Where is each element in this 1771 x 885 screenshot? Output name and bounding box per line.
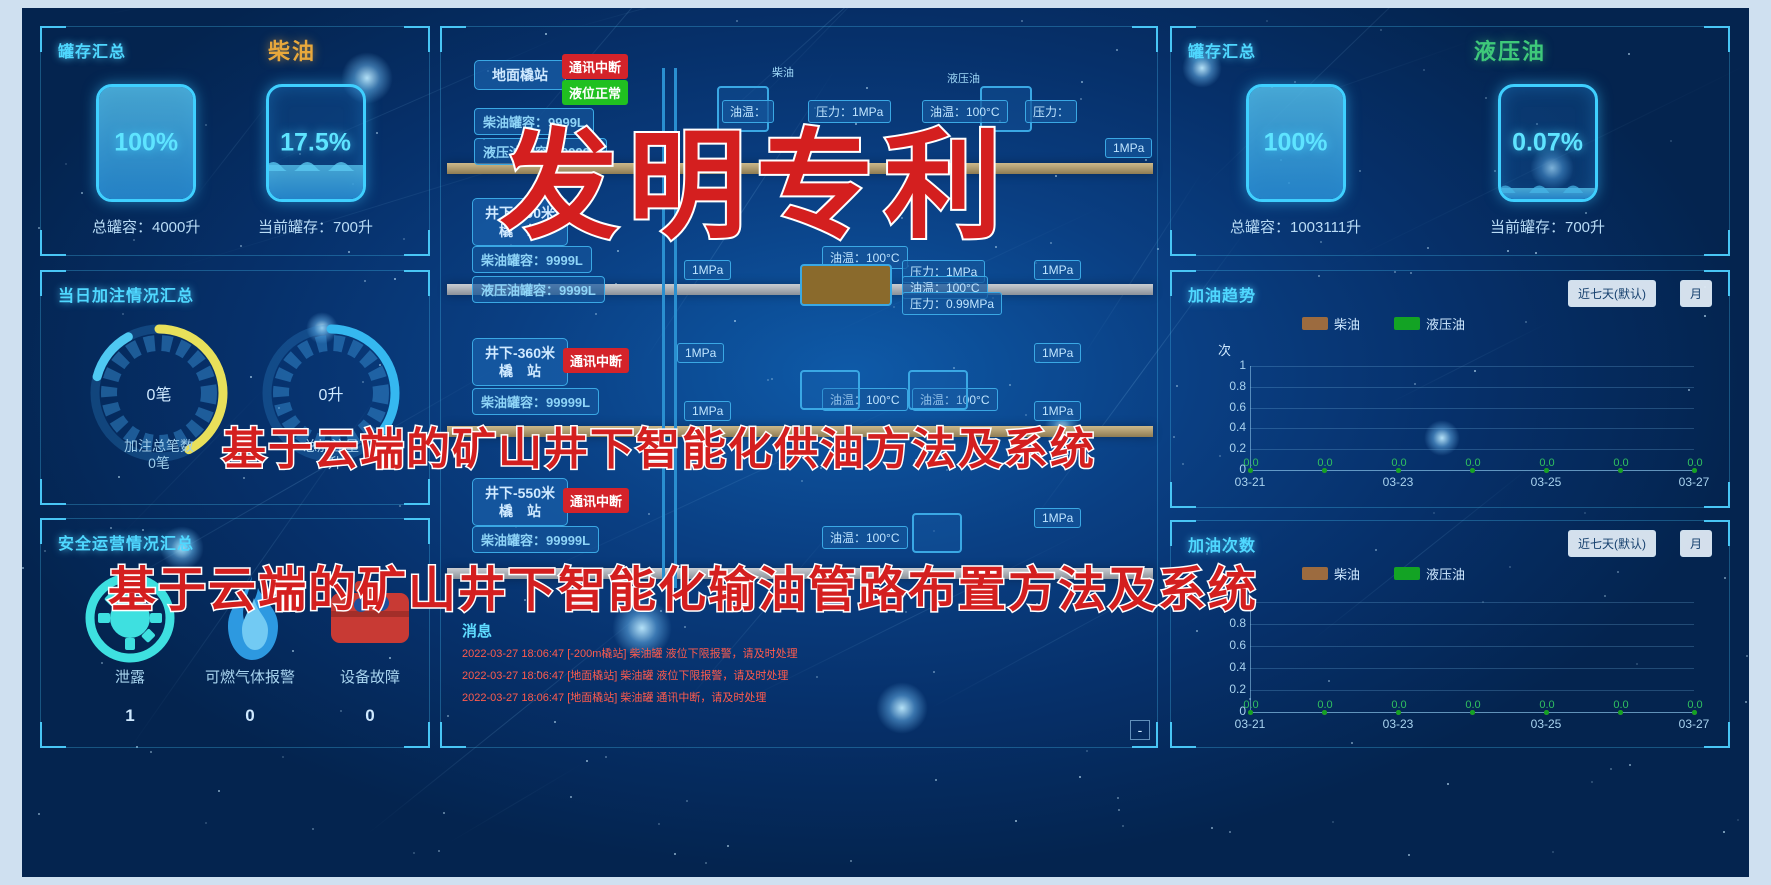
corner-bracket [40,722,66,748]
star-dot [218,790,220,792]
grid-line [1250,668,1694,669]
status-badge-comm-interrupt-360m: 通讯中断 [563,348,629,373]
chart-plot-area: 00.20.40.60.810.00.00.00.00.00.00.003-21… [1204,596,1704,734]
star-dot [205,822,207,824]
corner-bracket [404,479,430,505]
legend-label-diesel: 柴油 [1334,314,1360,333]
pressure-chip-5: 1MPa [1034,343,1081,363]
message-row: 2022-03-27 18:06:47 [地面橇站] 柴油罐 通讯中断，请及时处… [462,689,766,705]
star-dot [705,862,707,864]
panel-edge [40,52,41,230]
corner-bracket [440,722,466,748]
tank-total-caption: 总罐容：4000升 [92,216,200,237]
tank-current-hydraulic: 0.07% 当前罐存：700升 [1490,84,1605,237]
tank-unit-550m [912,513,962,553]
legend-hydraulic-count[interactable]: 液压油 [1394,564,1465,583]
star-dot [413,852,415,854]
y-tick-label: 1 [1216,358,1246,372]
messages-title: 消息 [462,620,492,641]
star-dot [1552,851,1554,853]
tank-unit-360m-b [908,370,968,410]
data-point-label: 0.0 [1684,457,1706,469]
pressure-chip-1: 1MPa [1105,138,1152,158]
y-tick-label: 0.6 [1216,638,1246,652]
safety-value-fault: 0 [320,706,420,726]
star-dot [312,828,314,830]
star-dot [1723,831,1725,833]
panel-edge [66,504,404,505]
capacity-chip-diesel-360m: 柴油罐容：99999L [472,388,599,415]
panel-title-hydraulic-inventory: 罐存汇总 [1188,38,1256,62]
corner-bracket [1170,722,1196,748]
grid-line [1250,602,1694,603]
sensor-chip-pressure-2: 压力： [1025,100,1077,123]
star-dot [658,823,660,825]
data-point-label: 0.0 [1314,699,1336,711]
data-point-label: 0.0 [1240,457,1262,469]
x-tick-label: 03-25 [1524,475,1568,489]
star-dot [1086,750,1088,752]
star-dot [1629,764,1631,766]
star-dot [686,800,688,802]
tank-percent-label: 100% [1249,129,1343,158]
panel-subtitle-hydraulic: 液压油 [1474,34,1546,66]
panel-edge [1157,52,1158,722]
star-dot [850,860,852,862]
panel-edge [66,255,404,256]
star-dot [1737,819,1739,821]
data-point-label: 0.0 [1462,699,1484,711]
period-select-week-trend[interactable]: 近七天(默认) [1568,280,1656,307]
star-dot [1211,827,1213,829]
data-point-label: 0.0 [1610,457,1632,469]
x-tick-label: 03-27 [1672,475,1716,489]
tank-graphic: 100% [96,84,196,202]
panel-edge [1196,520,1704,521]
star-dot [1433,512,1435,514]
sensor-chip-oil-temp-7: 油温：100°C [822,526,908,549]
corner-bracket [1170,230,1196,256]
tank-graphic: 0.07% [1498,84,1598,202]
grid-line [1250,408,1694,409]
period-select-week-count[interactable]: 近七天(默认) [1568,530,1656,557]
period-select-month-count[interactable]: 月 [1680,530,1712,557]
panel-edge [440,52,441,722]
star-dot [1266,20,1268,22]
corner-bracket [1170,482,1196,508]
gauge-caption-line1: 加注总笔数 [84,438,234,455]
data-point-label: 0.0 [1388,457,1410,469]
panel-edge [66,747,404,748]
legend-diesel-trend[interactable]: 柴油 [1302,314,1360,333]
screenshot-root: 罐存汇总 柴油 100% 总罐容：4000升 17.5% 当前罐存：700升 [0,0,1771,885]
gauge-caption-line2: 0笔 [84,455,234,472]
data-point-label: 0.0 [1684,699,1706,711]
panel-edge [40,296,41,479]
tank-group-label-hydraulic: 液压油 [947,70,980,86]
tank-total-diesel: 100% 总罐容：4000升 [92,84,200,237]
panel-hydraulic-inventory: 罐存汇总 液压油 100% 总罐容：1003111升 0.07% 当前罐存：70… [1170,26,1730,256]
corner-bracket [404,518,430,544]
y-tick-label: 0.4 [1216,420,1246,434]
data-point-label: 0.0 [1536,457,1558,469]
star-dot [727,845,729,847]
tank-fill [1501,188,1595,199]
corner-bracket [1704,26,1730,52]
star-dot [674,853,676,855]
grid-line [1250,366,1694,367]
panel-edge [1729,546,1730,722]
panel-edge [1196,747,1704,748]
star-dot [1591,781,1593,783]
x-tick-label: 03-21 [1228,475,1272,489]
grid-line [1250,428,1694,429]
wave-icon [266,157,366,171]
pressure-chip-2: 1MPa [684,260,731,280]
corner-bracket [40,230,66,256]
light-streak [106,8,434,15]
legend-hydraulic-trend[interactable]: 液压油 [1394,314,1465,333]
corner-bracket [1132,26,1158,52]
star-dot [1408,854,1410,856]
period-select-month-trend[interactable]: 月 [1680,280,1712,307]
x-tick-label: 03-27 [1672,717,1716,731]
y-tick-label: 0.6 [1216,400,1246,414]
panel-edge [40,544,41,722]
tank-total-hydraulic: 100% 总罐容：1003111升 [1230,84,1361,237]
tank-total-caption: 总罐容：1003111升 [1230,216,1361,237]
star-dot [150,751,152,753]
star-dot [22,567,24,569]
x-tick-label: 03-21 [1228,717,1272,731]
capacity-chip-diesel-550m: 柴油罐容：99999L [472,526,599,553]
message-row: 2022-03-27 18:06:47 [地面橇站] 柴油罐 液位下限报警，请及… [462,667,788,683]
station-label-550m[interactable]: 井下-550米 橇 站 [472,478,568,526]
legend-swatch-diesel [1302,317,1328,330]
panel-edge [66,26,404,27]
tank-fill [269,165,363,199]
star-dot [1122,825,1124,827]
tank-current-caption: 当前罐存：700升 [258,216,373,237]
panel-edge [66,270,404,271]
data-point-label: 0.0 [1240,699,1262,711]
panel-title-refuel-trend: 加油趋势 [1188,282,1256,306]
star-dot [1229,831,1231,833]
star-dot [1746,655,1748,657]
panel-title-daily-refuel: 当日加注情况汇总 [58,282,194,306]
star-dot [1745,701,1747,703]
data-point-label: 0.0 [1610,699,1632,711]
star-dot [38,813,40,815]
chart-refuel-count: 00.20.40.60.810.00.00.00.00.00.00.003-21… [1204,596,1704,734]
panel-edge [1196,26,1704,27]
tank-percent-label: 17.5% [269,129,363,158]
star-dot [1447,783,1449,785]
panel-edge [466,747,1132,748]
grid-line [1250,624,1694,625]
legend-label-hydraulic: 液压油 [1426,564,1465,583]
tank-current-diesel: 17.5% 当前罐存：700升 [258,84,373,237]
x-tick-label: 03-23 [1376,717,1420,731]
gauge-value: 0升 [256,381,406,405]
grid-line [1250,690,1694,691]
corner-bracket [404,270,430,296]
zoom-out-button[interactable]: - [1130,720,1150,740]
legend-swatch-hydraulic [1394,317,1420,330]
watermark-title-line1: 基于云端的矿山井下智能化供油方法及系统 [222,413,1096,477]
panel-refuel-trend: 加油趋势 近七天(默认) 月 柴油 液压油 次 00.20.40.60.810.… [1170,270,1730,508]
station-label-surface[interactable]: 地面橇站 [474,60,566,90]
corner-bracket [40,479,66,505]
panel-title-diesel-inventory: 罐存汇总 [58,38,126,62]
status-badge-comm-interrupt-550m: 通讯中断 [563,488,629,513]
star-dot [1117,797,1119,799]
panel-edge [1170,296,1171,482]
light-streak [446,762,585,845]
data-point-label: 0.0 [1314,457,1336,469]
y-tick-label: 0.2 [1216,441,1246,455]
star-dot [935,779,937,781]
x-tick-label: 03-23 [1376,475,1420,489]
star-dot [438,850,440,852]
data-point-label: 0.0 [1462,457,1484,469]
legend-label-diesel: 柴油 [1334,564,1360,583]
grid-line [1250,646,1694,647]
pressure-chip-3: 1MPa [1034,260,1081,280]
star-dot [1332,821,1334,823]
safety-label-gas: 可燃气体报警 [180,666,320,687]
star-dot [1584,512,1586,514]
star-dot [570,796,572,798]
panel-edge [1170,52,1171,230]
panel-edge [1196,255,1704,256]
safety-value-leak: 1 [80,706,180,726]
star-dot [1118,809,1120,811]
panel-edge [466,26,1132,27]
watermark-title-line2: 基于云端的矿山井下智能化输油管路布置方法及系统 [108,550,1258,620]
star-dot [1079,776,1081,778]
wave-icon [1498,179,1598,193]
corner-bracket [404,26,430,52]
data-point-label: 0.0 [1536,699,1558,711]
capacity-chip-hydraulic-200m: 液压油罐容：9999L [472,276,605,303]
legend-swatch-diesel [1302,567,1328,580]
station-label-360m[interactable]: 井下-360米 橇 站 [472,338,568,386]
safety-value-gas: 0 [180,706,320,726]
y-tick-label: 0.8 [1216,379,1246,393]
y-tick-label: 0.2 [1216,682,1246,696]
dashboard-canvas: 罐存汇总 柴油 100% 总罐容：4000升 17.5% 当前罐存：700升 [22,8,1749,877]
panel-edge [66,518,404,519]
chart-refuel-trend: 00.20.40.60.810.00.00.00.00.00.00.003-21… [1204,360,1704,492]
corner-bracket [1704,230,1730,256]
grid-line [1250,387,1694,388]
corner-bracket [404,230,430,256]
y-axis-unit-trend: 次 [1218,340,1231,359]
panel-edge [429,52,430,230]
safety-label-leak: 泄露 [80,666,180,687]
panel-edge [1196,507,1704,508]
star-dot [399,505,401,507]
panel-diesel-inventory: 罐存汇总 柴油 100% 总罐容：4000升 17.5% 当前罐存：700升 [40,26,430,256]
pressure-chip-8: 1MPa [1034,508,1081,528]
tank-group-label-diesel: 柴油 [772,64,794,80]
tank-unit-360m-a [800,370,860,410]
pressure-chip-4: 1MPa [677,343,724,363]
panel-edge [1196,270,1704,271]
star-dot [282,756,284,758]
panel-edge [1729,52,1730,230]
y-tick-label: 0.4 [1216,660,1246,674]
panel-edge [1729,296,1730,482]
star-dot [1021,20,1023,22]
gauge-refuel-count-caption: 加注总笔数 0笔 [84,438,234,472]
tank-graphic: 100% [1246,84,1346,202]
star-dot [443,812,445,814]
tank-unit-200m [800,264,892,306]
data-point-label: 0.0 [1388,699,1410,711]
star-dot [1015,820,1017,822]
chart-plot-area: 00.20.40.60.810.00.00.00.00.00.00.003-21… [1204,360,1704,492]
panel-subtitle-diesel: 柴油 [268,34,316,66]
star-dot [1610,768,1612,770]
status-badge-comm-interrupt: 通讯中断 [562,54,628,79]
star-dot [586,760,588,762]
legend-diesel-count[interactable]: 柴油 [1302,564,1360,583]
safety-label-fault: 设备故障 [320,666,420,687]
tank-percent-label: 0.07% [1501,129,1595,158]
tank-graphic: 17.5% [266,84,366,202]
corner-bracket [440,26,466,52]
grid-line [1250,449,1694,450]
tank-percent-label: 100% [99,129,193,158]
x-tick-label: 03-25 [1524,717,1568,731]
legend-swatch-hydraulic [1394,567,1420,580]
tank-current-caption: 当前罐存：700升 [1490,216,1605,237]
y-axis-line [1250,366,1251,470]
gauge-value: 0笔 [84,381,234,405]
watermark-patent: 发明专利 [500,90,1012,261]
message-row: 2022-03-27 18:06:47 [-200m橇站] 柴油罐 液位下限报警… [462,645,798,661]
legend-label-hydraulic: 液压油 [1426,314,1465,333]
sensor-chip-pressure-4: 压力：0.99MPa [902,292,1002,315]
star-dot [605,756,607,758]
star-dot [736,20,738,22]
